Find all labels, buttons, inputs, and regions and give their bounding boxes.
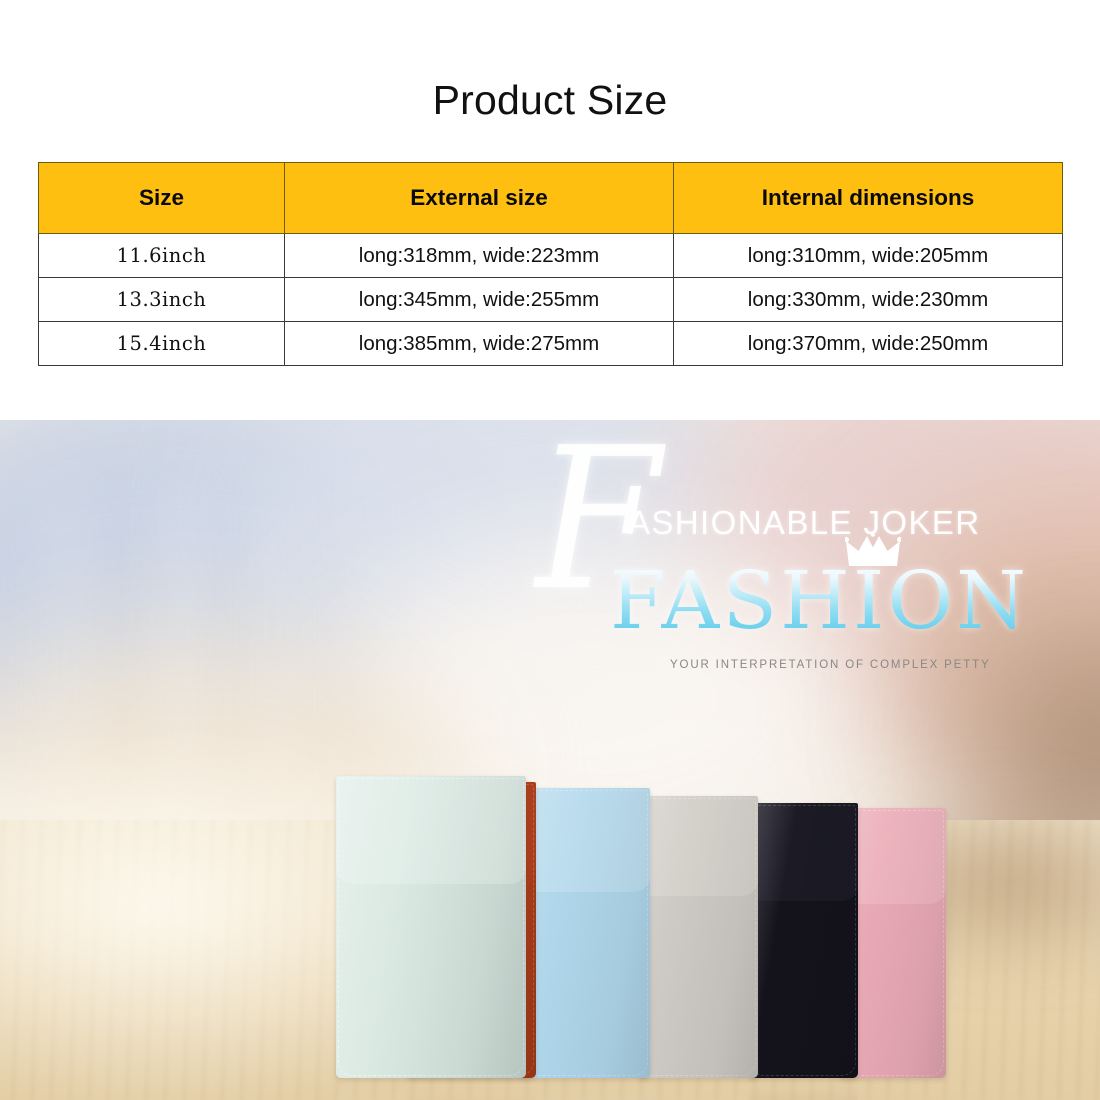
cell-external: long:345mm, wide:255mm: [285, 278, 674, 322]
table-row: 13.3inch long:345mm, wide:255mm long:330…: [39, 278, 1063, 322]
sleeve-reflection: [638, 1076, 758, 1100]
sleeve-flap: [748, 803, 858, 901]
sleeve-reflection: [838, 1076, 946, 1100]
window-light-band: [268, 500, 277, 790]
brand-tagline: YOUR INTERPRETATION OF COMPLEX PETTY: [670, 659, 990, 671]
column-header-external: External size: [285, 163, 674, 234]
brand-wordmark-top: ASHIONABLE JOKER: [628, 504, 981, 542]
column-header-size: Size: [39, 163, 285, 234]
navy-black-sleeve: [748, 803, 858, 1078]
cell-size: 13.3inch: [39, 278, 285, 322]
brand-wordmark-main: FASHION: [610, 554, 1029, 647]
product-lifestyle-image: F ASHIONABLE JOKER FASHION YOUR INTERPRE…: [0, 420, 1100, 1100]
sleeve-flap: [336, 776, 526, 884]
sleeve-reflections: [336, 1076, 946, 1100]
column-header-internal: Internal dimensions: [674, 163, 1063, 234]
product-size-panel: Product Size Size External size Internal…: [0, 0, 1100, 420]
window-light-band: [175, 480, 187, 800]
page-title: Product Size: [0, 77, 1100, 124]
product-size-table: Size External size Internal dimensions 1…: [38, 162, 1063, 366]
cell-internal: long:330mm, wide:230mm: [674, 278, 1063, 322]
light-gray-sleeve: [638, 796, 758, 1078]
sleeve-reflection: [406, 1076, 536, 1100]
sleeve-lineup: [336, 778, 946, 1078]
cell-internal: long:310mm, wide:205mm: [674, 234, 1063, 278]
table-row: 15.4inch long:385mm, wide:275mm long:370…: [39, 322, 1063, 366]
table-row: 11.6inch long:318mm, wide:223mm long:310…: [39, 234, 1063, 278]
cell-size: 15.4inch: [39, 322, 285, 366]
cell-external: long:318mm, wide:223mm: [285, 234, 674, 278]
window-light-band: [60, 490, 70, 790]
light-blue-sleeve: [520, 788, 650, 1078]
cell-external: long:385mm, wide:275mm: [285, 322, 674, 366]
mint-green-sleeve: [336, 776, 526, 1078]
brand-lockup: F ASHIONABLE JOKER FASHION YOUR INTERPRE…: [520, 430, 1040, 690]
cell-internal: long:370mm, wide:250mm: [674, 322, 1063, 366]
table-header-row: Size External size Internal dimensions: [39, 163, 1063, 234]
sleeve-reflection: [520, 1076, 650, 1100]
cell-size: 11.6inch: [39, 234, 285, 278]
sleeve-flap: [638, 796, 758, 896]
sleeve-flap: [520, 788, 650, 892]
